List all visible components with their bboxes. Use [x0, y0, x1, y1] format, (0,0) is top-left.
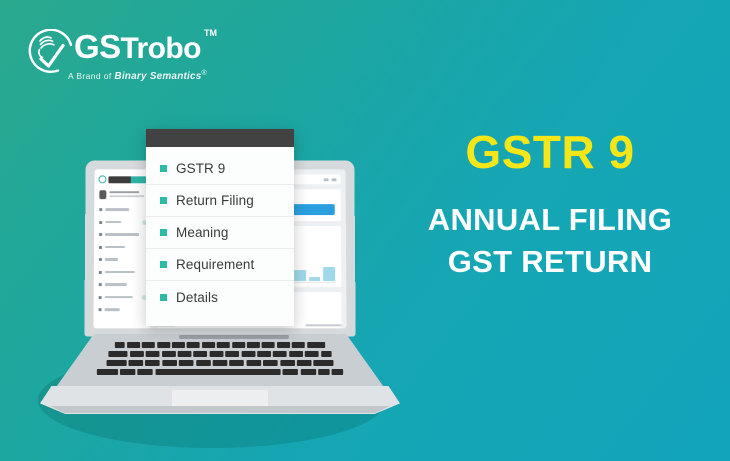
brand-logo: GSTrobo TM A Brand of Binary Semantics®	[28, 26, 218, 90]
sidebar-menu	[98, 206, 148, 313]
brand-wordmark-gs: GS	[74, 28, 120, 65]
app-sidebar	[93, 169, 152, 328]
sidebar-item[interactable]	[98, 244, 147, 251]
list-item-label: Meaning	[176, 225, 229, 240]
keyboard-row	[60, 369, 379, 375]
sidebar-item[interactable]	[98, 306, 147, 313]
keyboard-deck	[54, 334, 386, 390]
keyboard-row	[68, 360, 372, 366]
list-item-label: Requirement	[176, 257, 254, 272]
list-item[interactable]: Requirement	[146, 249, 294, 281]
list-item-label: Return Filing	[176, 193, 254, 208]
sidebar-logo-icon	[98, 175, 106, 183]
list-item[interactable]: Return Filing	[146, 185, 294, 217]
hand-check-leaf-icon	[28, 29, 74, 75]
topics-card-header	[146, 129, 294, 147]
keyboard	[54, 342, 386, 384]
bullet-icon	[160, 294, 167, 301]
sidebar-logo-text	[108, 176, 147, 183]
bullet-icon	[160, 165, 167, 172]
avatar	[99, 190, 106, 199]
registered-symbol: ®	[202, 70, 207, 77]
tagline-parent-brand: Binary Semantics	[114, 71, 201, 82]
keyboard-row	[85, 342, 356, 348]
keyboard-row	[76, 351, 363, 357]
list-item[interactable]: Meaning	[146, 217, 294, 249]
poster-canvas: GSTrobo TM A Brand of Binary Semantics® …	[0, 0, 730, 461]
laptop-base-lip	[43, 406, 397, 413]
brand-wordmark: GSTrobo	[74, 26, 201, 70]
brand-wordmark-trobo: Trobo	[120, 32, 200, 65]
laptop-base	[40, 334, 400, 404]
brand-tagline: A Brand of Binary Semantics®	[68, 70, 207, 82]
bullet-icon	[160, 261, 167, 268]
list-item[interactable]: GSTR 9	[146, 153, 294, 185]
sidebar-item[interactable]	[98, 294, 147, 301]
sidebar-item[interactable]	[98, 269, 147, 276]
subtitle-line-2: GST RETURN	[400, 242, 700, 282]
sidebar-item[interactable]	[98, 281, 147, 288]
sidebar-item[interactable]	[98, 206, 147, 213]
laptop-hinge	[179, 335, 289, 339]
headline-block: GSTR 9 ANNUAL FILING GST RETURN	[400, 126, 700, 282]
list-item-label: Details	[176, 290, 218, 305]
sidebar-user-lines	[109, 191, 147, 198]
topics-card: GSTR 9 Return Filing Meaning Requirement…	[146, 129, 294, 326]
topbar-actions	[324, 178, 337, 181]
bullet-icon	[160, 197, 167, 204]
trademark-symbol: TM	[204, 28, 217, 38]
sidebar-user	[99, 190, 147, 199]
tagline-prefix: A Brand of	[68, 71, 112, 81]
page-title: GSTR 9	[400, 126, 700, 178]
subtitle-line-1: ANNUAL FILING	[400, 200, 700, 240]
list-item[interactable]: Details	[146, 281, 294, 313]
sidebar-item[interactable]	[98, 219, 147, 226]
list-item-label: GSTR 9	[176, 161, 225, 176]
sidebar-logo	[98, 175, 147, 183]
topics-list: GSTR 9 Return Filing Meaning Requirement…	[146, 147, 294, 313]
bullet-icon	[160, 229, 167, 236]
sidebar-item[interactable]	[98, 231, 147, 238]
sidebar-item[interactable]	[98, 256, 147, 263]
